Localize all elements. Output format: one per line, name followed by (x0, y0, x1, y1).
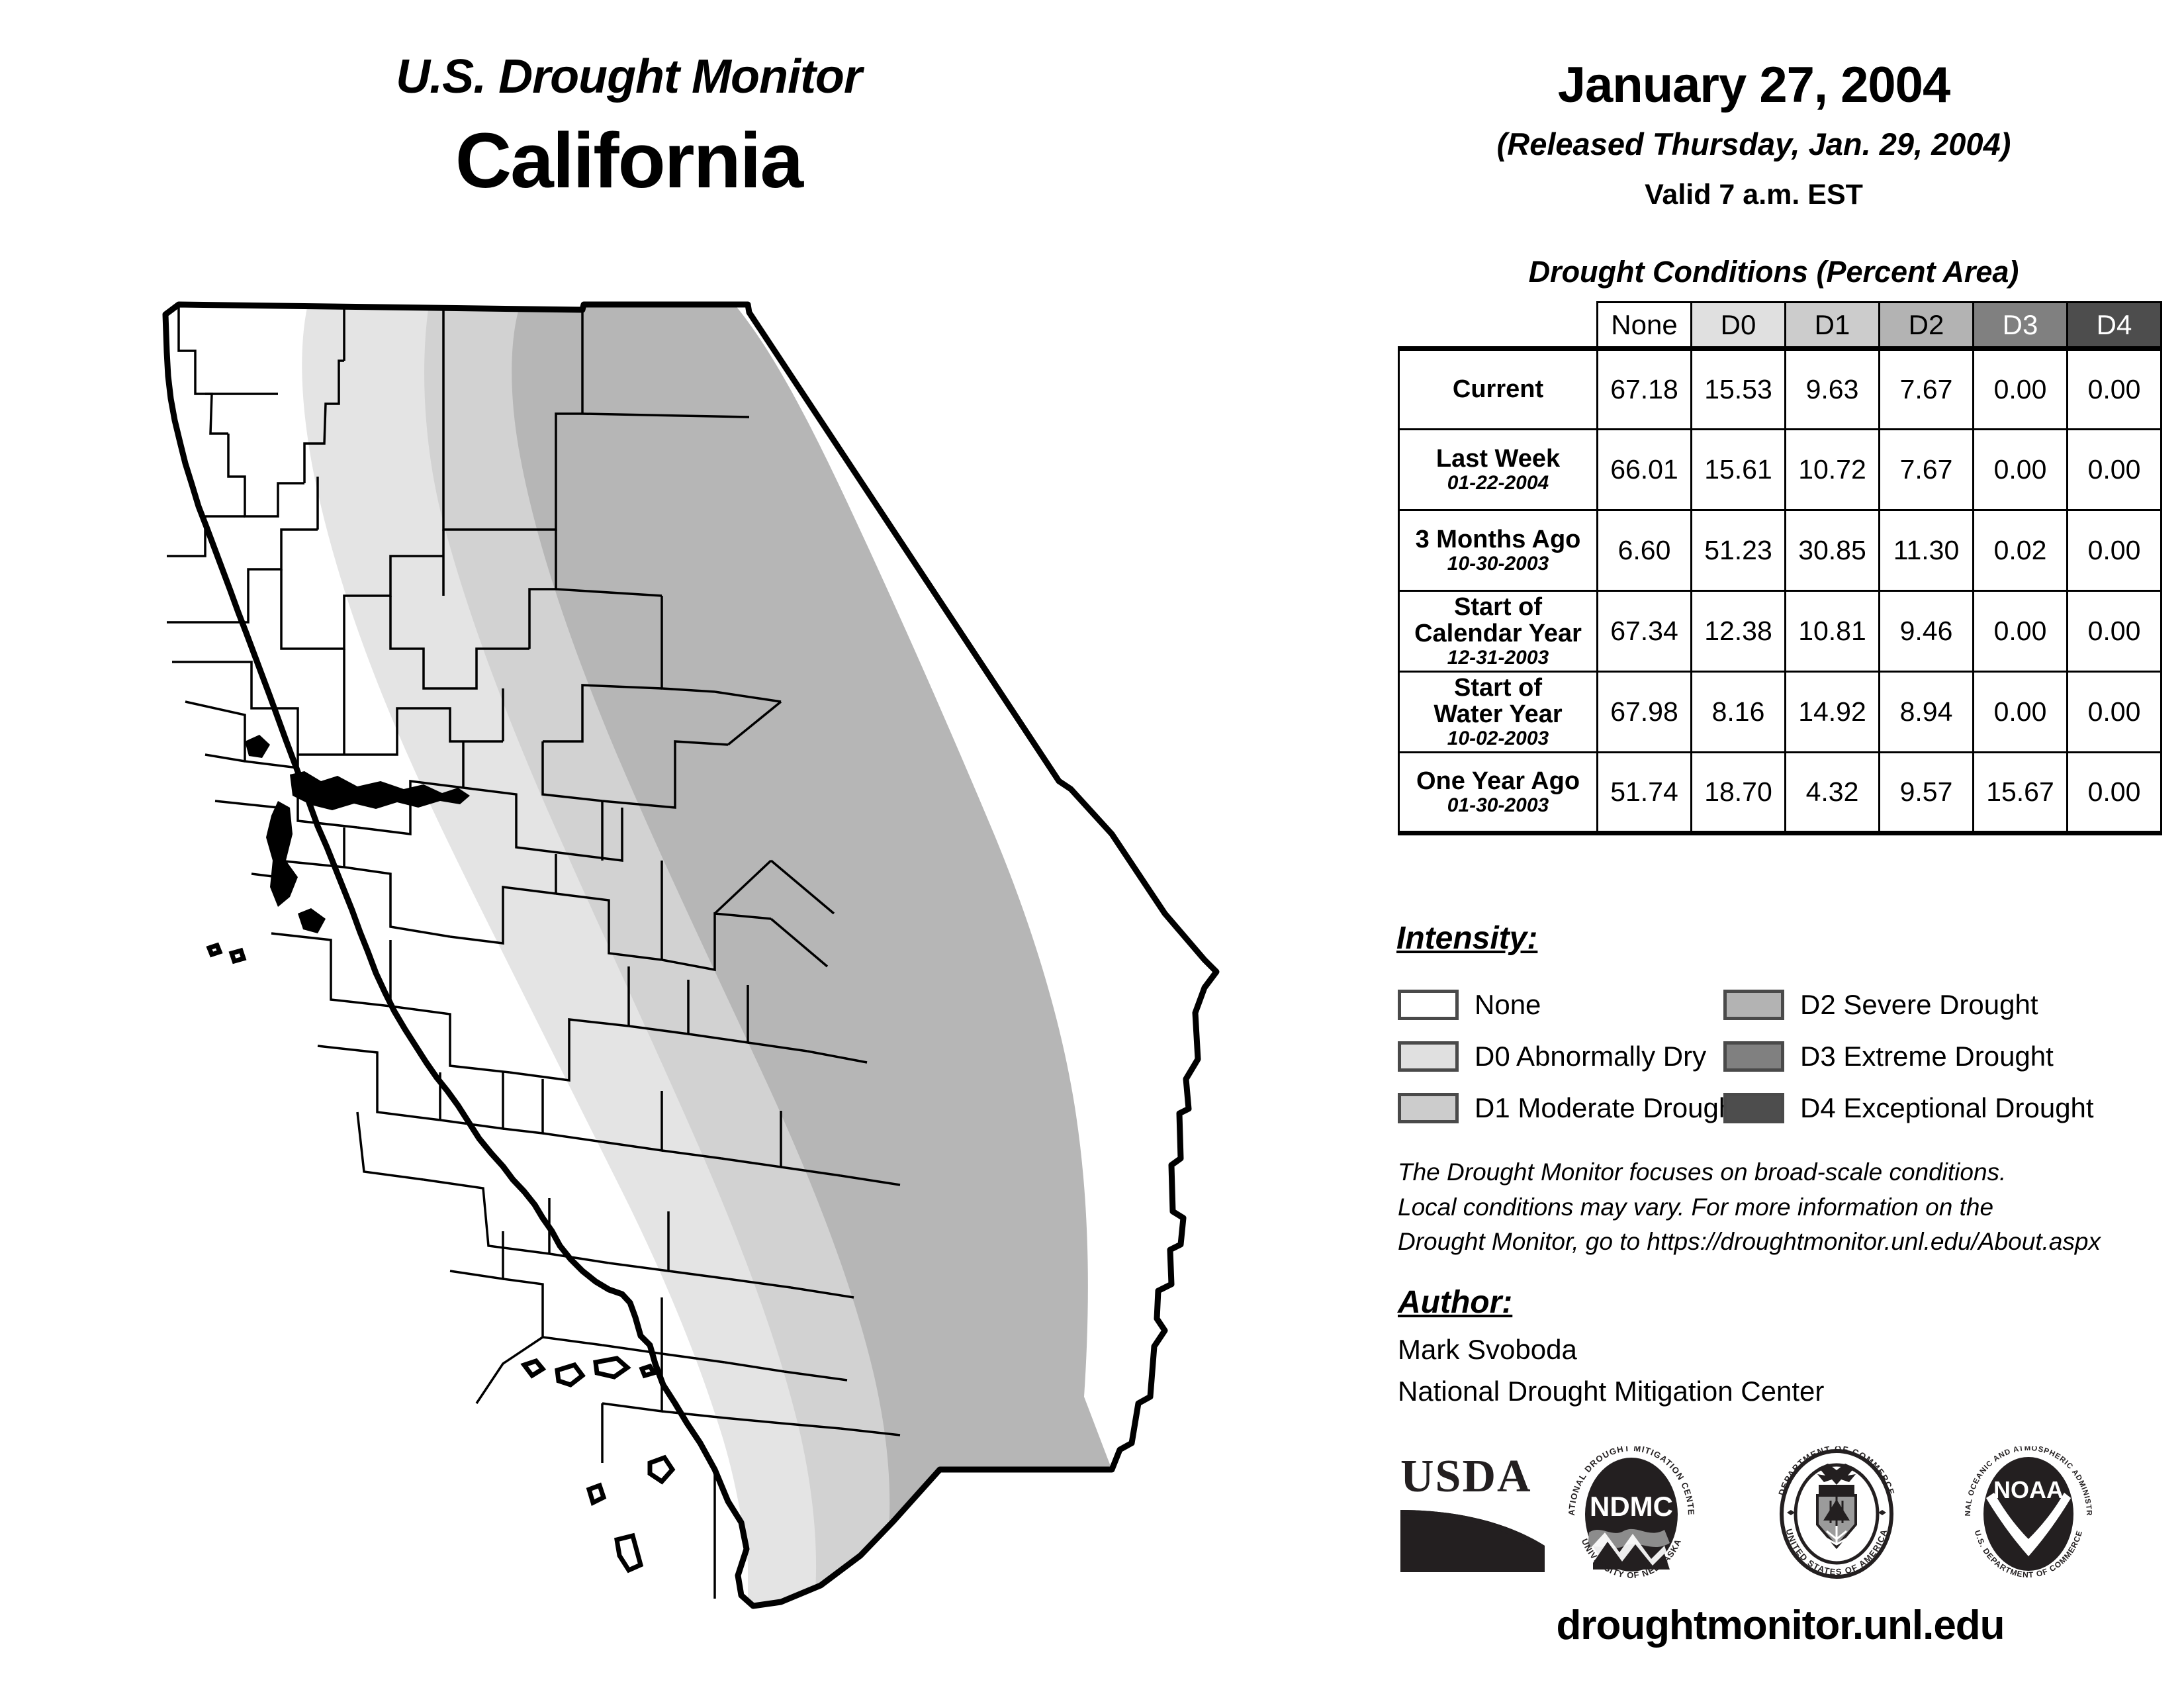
cell-3months-d4: 0.00 (2068, 510, 2161, 591)
author-name: Mark Svoboda (1398, 1334, 1577, 1366)
legend-label-d0: D0 Abnormally Dry (1475, 1041, 1706, 1072)
table-row: Current 67.18 15.53 9.63 7.67 0.00 0.00 (1399, 349, 2161, 430)
table-corner-blank (1399, 303, 1598, 349)
table-row: One Year Ago 01-30-2003 51.74 18.70 4.32… (1399, 753, 2161, 833)
cell-lastweek-d0: 15.61 (1692, 430, 1786, 510)
cell-oneyear-d2: 9.57 (1880, 753, 1974, 833)
author-heading: Author: (1398, 1284, 1512, 1321)
cell-wateryear-none: 67.98 (1598, 672, 1692, 753)
cell-lastweek-d1: 10.72 (1786, 430, 1880, 510)
swatch-d4-icon (1723, 1093, 1784, 1123)
cell-current-d2: 7.67 (1880, 349, 1974, 430)
row-label-text-line1: Start of (1400, 675, 1596, 702)
cell-calyear-d4: 0.00 (2068, 591, 2161, 672)
legend-label-d3: D3 Extreme Drought (1800, 1041, 2054, 1072)
legend-item-d0: D0 Abnormally Dry (1398, 1031, 1742, 1082)
legend-label-d4: D4 Exceptional Drought (1800, 1092, 2094, 1124)
table-row: Start of Calendar Year 12-31-2003 67.34 … (1399, 591, 2161, 672)
drought-conditions-table: None D0 D1 D2 D3 D4 Current 67.18 15.53 … (1398, 301, 2162, 835)
agency-logos: USDA NDMC NAT (1390, 1446, 2171, 1582)
cell-wateryear-d4: 0.00 (2068, 672, 2161, 753)
row-label-one-year-ago: One Year Ago 01-30-2003 (1399, 753, 1598, 833)
cell-wateryear-d0: 8.16 (1692, 672, 1786, 753)
row-label-3-months-ago: 3 Months Ago 10-30-2003 (1399, 510, 1598, 591)
disclaimer-line-1: The Drought Monitor focuses on broad-sca… (1398, 1155, 2179, 1190)
legend-label-none: None (1475, 989, 1541, 1021)
cell-calyear-d1: 10.81 (1786, 591, 1880, 672)
legend-item-d2: D2 Severe Drought (1723, 980, 2094, 1030)
row-label-date: 12-31-2003 (1400, 647, 1596, 669)
row-label-text: 3 Months Ago (1400, 526, 1596, 553)
website-url: droughtmonitor.unl.edu (1390, 1602, 2171, 1649)
cell-current-none: 67.18 (1598, 349, 1692, 430)
cell-lastweek-none: 66.01 (1598, 430, 1692, 510)
table-header-row: None D0 D1 D2 D3 D4 (1399, 303, 2161, 349)
cell-wateryear-d1: 14.92 (1786, 672, 1880, 753)
disclaimer-text: The Drought Monitor focuses on broad-sca… (1398, 1155, 2179, 1260)
cell-current-d0: 15.53 (1692, 349, 1786, 430)
cell-oneyear-d1: 4.32 (1786, 753, 1880, 833)
page-title-region: California (278, 116, 979, 206)
col-header-d2: D2 (1880, 303, 1974, 349)
cell-3months-d3: 0.02 (1974, 510, 2068, 591)
cell-oneyear-d3: 15.67 (1974, 753, 2068, 833)
row-label-text: Current (1400, 376, 1596, 403)
legend-item-d4: D4 Exceptional Drought (1723, 1083, 2094, 1133)
cell-lastweek-d4: 0.00 (2068, 430, 2161, 510)
row-label-current: Current (1399, 349, 1598, 430)
california-drought-map (79, 278, 1284, 1642)
col-header-d1: D1 (1786, 303, 1880, 349)
cell-3months-d0: 51.23 (1692, 510, 1786, 591)
noaa-logo: NOAA NATIONAL OCEANIC AND ATMOSPHERIC AD… (1956, 1446, 2101, 1585)
legend-label-d1: D1 Moderate Drought (1475, 1092, 1742, 1124)
swatch-d3-icon (1723, 1041, 1784, 1072)
cell-oneyear-none: 51.74 (1598, 753, 1692, 833)
department-of-commerce-seal: DEPARTMENT OF COMMERCE UNITED STATES OF … (1767, 1446, 1906, 1585)
svg-text:NDMC: NDMC (1590, 1491, 1673, 1522)
cell-calyear-d0: 12.38 (1692, 591, 1786, 672)
legend-item-d1: D1 Moderate Drought (1398, 1083, 1742, 1133)
row-label-date: 10-30-2003 (1400, 553, 1596, 575)
legend-column-left: None D0 Abnormally Dry D1 Moderate Droug… (1398, 980, 1742, 1135)
col-header-d3: D3 (1974, 303, 2068, 349)
row-label-date: 01-30-2003 (1400, 795, 1596, 816)
legend-column-right: D2 Severe Drought D3 Extreme Drought D4 … (1723, 980, 2094, 1135)
cell-lastweek-d3: 0.00 (1974, 430, 2068, 510)
cell-calyear-d3: 0.00 (1974, 591, 2068, 672)
row-label-text-line2: Calendar Year (1400, 620, 1596, 647)
cell-current-d3: 0.00 (1974, 349, 2068, 430)
swatch-d0-icon (1398, 1041, 1459, 1072)
drought-monitor-page: U.S. Drought Monitor California (0, 0, 2184, 1688)
row-label-date: 10-02-2003 (1400, 728, 1596, 749)
cell-oneyear-d0: 18.70 (1692, 753, 1786, 833)
disclaimer-line-2: Local conditions may vary. For more info… (1398, 1190, 2179, 1225)
svg-text:NOAA: NOAA (1993, 1476, 2064, 1503)
row-label-last-week: Last Week 01-22-2004 (1399, 430, 1598, 510)
row-label-start-water-year: Start of Water Year 10-02-2003 (1399, 672, 1598, 753)
swatch-d2-icon (1723, 990, 1784, 1020)
usda-logo: USDA (1396, 1446, 1549, 1582)
table-row: Start of Water Year 10-02-2003 67.98 8.1… (1399, 672, 2161, 753)
swatch-none-icon (1398, 990, 1459, 1020)
report-release-date: (Released Thursday, Jan. 29, 2004) (1383, 126, 2124, 162)
table-row: Last Week 01-22-2004 66.01 15.61 10.72 7… (1399, 430, 2161, 510)
row-label-text: One Year Ago (1400, 768, 1596, 795)
cell-current-d1: 9.63 (1786, 349, 1880, 430)
row-label-date: 01-22-2004 (1400, 473, 1596, 494)
cell-calyear-d2: 9.46 (1880, 591, 1974, 672)
report-date: January 27, 2004 (1383, 56, 2124, 114)
author-organization: National Drought Mitigation Center (1398, 1376, 1824, 1407)
row-label-text-line2: Water Year (1400, 701, 1596, 728)
cell-3months-none: 6.60 (1598, 510, 1692, 591)
cell-3months-d1: 30.85 (1786, 510, 1880, 591)
svg-text:USDA: USDA (1400, 1451, 1532, 1502)
col-header-none: None (1598, 303, 1692, 349)
row-label-start-calendar-year: Start of Calendar Year 12-31-2003 (1399, 591, 1598, 672)
intensity-legend-title: Intensity: (1396, 920, 1537, 957)
cell-calyear-none: 67.34 (1598, 591, 1692, 672)
swatch-d1-icon (1398, 1093, 1459, 1123)
table-row: 3 Months Ago 10-30-2003 6.60 51.23 30.85… (1399, 510, 2161, 591)
ndmc-logo: NDMC NATIONAL DROUGHT MITIGATION CENTER … (1559, 1446, 1704, 1585)
row-label-text: Last Week (1400, 445, 1596, 473)
legend-item-none: None (1398, 980, 1742, 1030)
col-header-d0: D0 (1692, 303, 1786, 349)
col-header-d4: D4 (2068, 303, 2161, 349)
report-valid-time: Valid 7 a.m. EST (1383, 179, 2124, 211)
disclaimer-line-3: Drought Monitor, go to https://droughtmo… (1398, 1225, 2179, 1260)
legend-item-d3: D3 Extreme Drought (1723, 1031, 2094, 1082)
cell-3months-d2: 11.30 (1880, 510, 1974, 591)
cell-wateryear-d2: 8.94 (1880, 672, 1974, 753)
cell-oneyear-d4: 0.00 (2068, 753, 2161, 833)
row-label-text-line1: Start of (1400, 594, 1596, 621)
cell-current-d4: 0.00 (2068, 349, 2161, 430)
cell-wateryear-d3: 0.00 (1974, 672, 2068, 753)
table-caption: Drought Conditions (Percent Area) (1383, 255, 2164, 289)
cell-lastweek-d2: 7.67 (1880, 430, 1974, 510)
page-title-program: U.S. Drought Monitor (278, 50, 979, 104)
legend-label-d2: D2 Severe Drought (1800, 989, 2038, 1021)
